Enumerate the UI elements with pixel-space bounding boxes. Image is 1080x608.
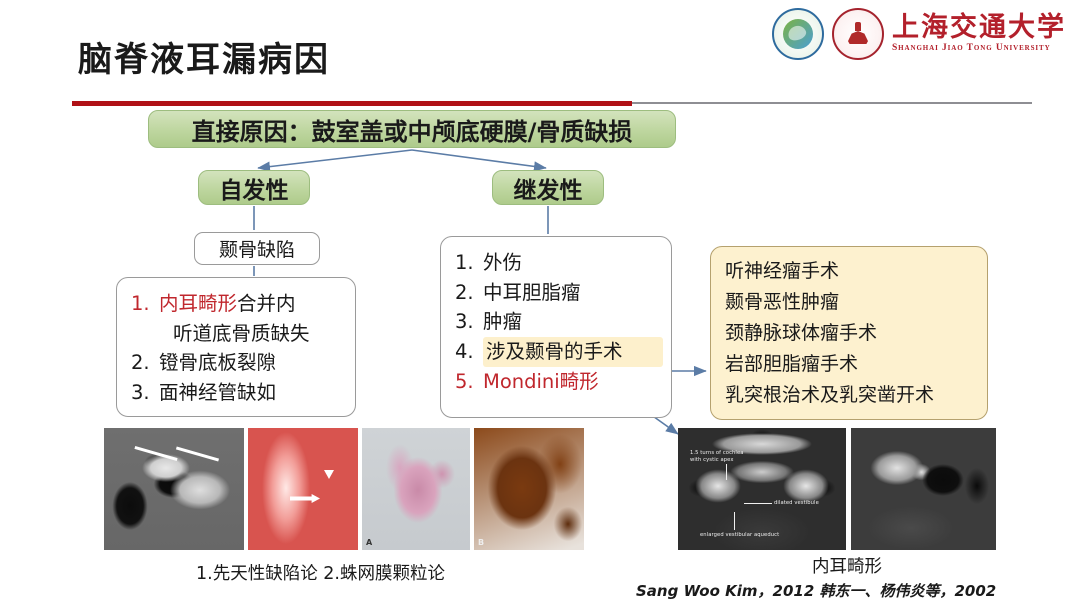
list-number: 4. [455, 337, 483, 367]
figure-strip-right: 1.5 turns of cochlea with cystic apex di… [678, 428, 996, 550]
list-item: 3. 面神经管缺如 [117, 378, 355, 408]
list-item-continuation: 听道底骨质缺失 [117, 319, 355, 349]
histology-label-b: B [478, 538, 484, 547]
flow-branch-spontaneous: 自发性 [198, 170, 310, 205]
list-item-highlighted: 4. 涉及颞骨的手术 [441, 337, 671, 367]
sjtu-seal-logo-icon [832, 8, 884, 60]
histology-label-a: A [366, 538, 372, 547]
ct-axial-inner-ear-image: 1.5 turns of cochlea with cystic apex di… [678, 428, 846, 550]
flow-root-box: 直接原因：鼓室盖或中颅底硬膜/骨质缺损 [148, 110, 676, 148]
ct-leader-line [726, 464, 727, 480]
list-item: 听神经瘤手术 [725, 256, 987, 287]
list-number: 1. [455, 248, 483, 278]
list-item: 3. 肿瘤 [441, 307, 671, 337]
caption-right: 内耳畸形 [812, 553, 882, 578]
page-title: 脑脊液耳漏病因 [78, 32, 330, 81]
flow-temporal-bone-defect: 颞骨缺陷 [194, 232, 320, 265]
list-item: 岩部胆脂瘤手术 [725, 349, 987, 380]
list-item: 2. 镫骨底板裂隙 [117, 348, 355, 378]
list-text: 肿瘤 [483, 307, 663, 337]
ct-annotation-aqueduct: enlarged vestibular aqueduct [700, 532, 779, 539]
left-causes-list: 1. 内耳畸形合并内 听道底骨质缺失 2. 镫骨底板裂隙 3. 面神经管缺如 [117, 278, 355, 408]
list-item: 5. Mondini畸形 [441, 367, 671, 397]
ct-annotation-cochlea: 1.5 turns of cochlea with cystic apex [690, 450, 754, 463]
list-text: 涉及颞骨的手术 [483, 337, 663, 367]
list-text: Mondini畸形 [483, 367, 663, 397]
title-rule-grey [632, 102, 1032, 104]
figure-strip-left: A B [104, 428, 584, 550]
list-number: 3. [455, 307, 483, 337]
list-item: 2. 中耳胆脂瘤 [441, 278, 671, 308]
caption-left: 1.先天性缺陷论 2.蛛网膜颗粒论 [196, 560, 445, 585]
list-item: 1. 内耳畸形合并内 [117, 289, 355, 319]
flow-branch-secondary: 继发性 [492, 170, 604, 205]
ct-axial-mastoid-image [851, 428, 996, 550]
university-name-cn: 上海交通大学 [892, 14, 1066, 41]
surgery-types-panel: 听神经瘤手术 颞骨恶性肿瘤 颈静脉球体瘤手术 岩部胆脂瘤手术 乳突根治术及乳突凿… [710, 246, 988, 420]
ct-annotation-vestibule: dilated vestibule [774, 500, 819, 507]
ct-leader-line [744, 503, 772, 504]
list-number: 3. [131, 378, 159, 408]
intraoperative-endoscopy-image [248, 428, 358, 550]
branding-logos: 上海交通大学 Shanghai Jiao Tong University [772, 8, 1066, 60]
secondary-causes-list: 1. 外伤 2. 中耳胆脂瘤 3. 肿瘤 4. 涉及颞骨的手术 5. Mondi… [441, 237, 671, 396]
list-text: 中耳胆脂瘤 [483, 278, 663, 308]
secondary-causes-panel: 1. 外伤 2. 中耳胆脂瘤 3. 肿瘤 4. 涉及颞骨的手术 5. Mondi… [440, 236, 672, 418]
histology-ihc-image: B [474, 428, 584, 550]
list-item: 1. 外伤 [441, 248, 671, 278]
list-item: 颈静脉球体瘤手术 [725, 318, 987, 349]
list-item: 乳突根治术及乳突凿开术 [725, 380, 987, 411]
list-text: 外伤 [483, 248, 663, 278]
university-name-en: Shanghai Jiao Tong University [892, 44, 1066, 54]
surgery-types-list: 听神经瘤手术 颞骨恶性肿瘤 颈静脉球体瘤手术 岩部胆脂瘤手术 乳突根治术及乳突凿… [711, 247, 987, 411]
histology-he-image: A [362, 428, 470, 550]
list-text: 面神经管缺如 [159, 378, 347, 408]
list-text: 内耳畸形合并内 [159, 289, 347, 319]
list-text-continued: 听道底骨质缺失 [131, 319, 310, 349]
ct-temporal-bone-image [104, 428, 244, 550]
reference-citations: Sang Woo Kim，2012 韩东一、杨伟炎等，2002 [636, 580, 996, 601]
ct-leader-line [734, 512, 735, 530]
sjtu-medical-logo-icon [772, 8, 824, 60]
list-item: 颞骨恶性肿瘤 [725, 287, 987, 318]
list-number: 2. [131, 348, 159, 378]
slide-canvas: 上海交通大学 Shanghai Jiao Tong University 脑脊液… [0, 0, 1080, 608]
title-rule-red [72, 101, 632, 106]
left-causes-panel: 1. 内耳畸形合并内 听道底骨质缺失 2. 镫骨底板裂隙 3. 面神经管缺如 [116, 277, 356, 417]
list-number: 1. [131, 289, 159, 319]
list-number: 5. [455, 367, 483, 397]
list-number: 2. [455, 278, 483, 308]
branding-wordmark: 上海交通大学 Shanghai Jiao Tong University [892, 14, 1066, 54]
list-text: 镫骨底板裂隙 [159, 348, 347, 378]
